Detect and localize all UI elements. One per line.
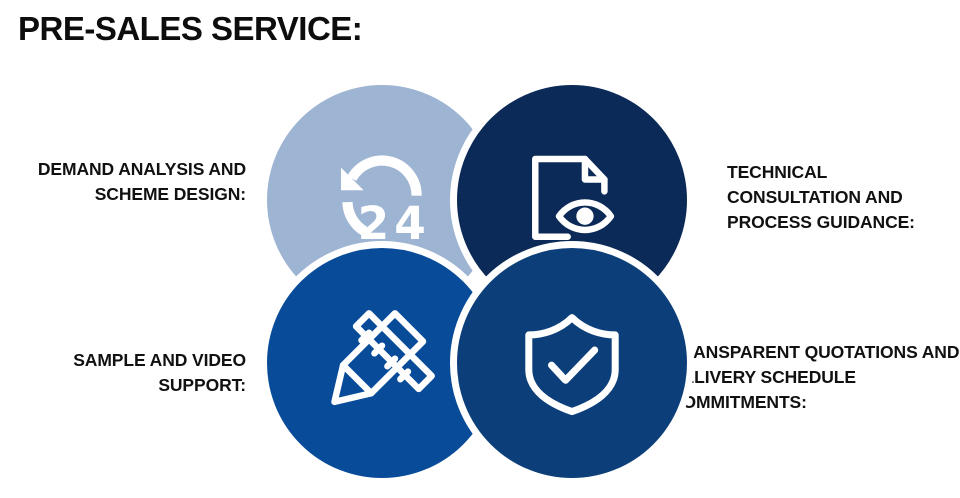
- shield-check-icon: [518, 309, 626, 417]
- infographic-canvas: PRE-SALES SERVICE: 2 4: [0, 0, 960, 498]
- circle-transparent-quotations[interactable]: [450, 241, 694, 485]
- clock-24-cycle-icon: 2 4: [328, 146, 436, 254]
- label-sample-video-support: SAMPLE AND VIDEO SUPPORT:: [0, 348, 246, 398]
- circle-cluster: 2 4: [267, 85, 671, 478]
- label-demand-analysis: DEMAND ANALYSIS AND SCHEME DESIGN:: [0, 157, 246, 207]
- label-transparent-quotations: TRANSPARENT QUOTATIONS AND DELIVERY SCHE…: [670, 340, 960, 415]
- label-technical-consultation: TECHNICAL CONSULTATION AND PROCESS GUIDA…: [727, 160, 957, 235]
- document-eye-icon: [518, 146, 626, 254]
- pencil-ruler-icon: [328, 309, 436, 417]
- page-title: PRE-SALES SERVICE:: [18, 9, 362, 49]
